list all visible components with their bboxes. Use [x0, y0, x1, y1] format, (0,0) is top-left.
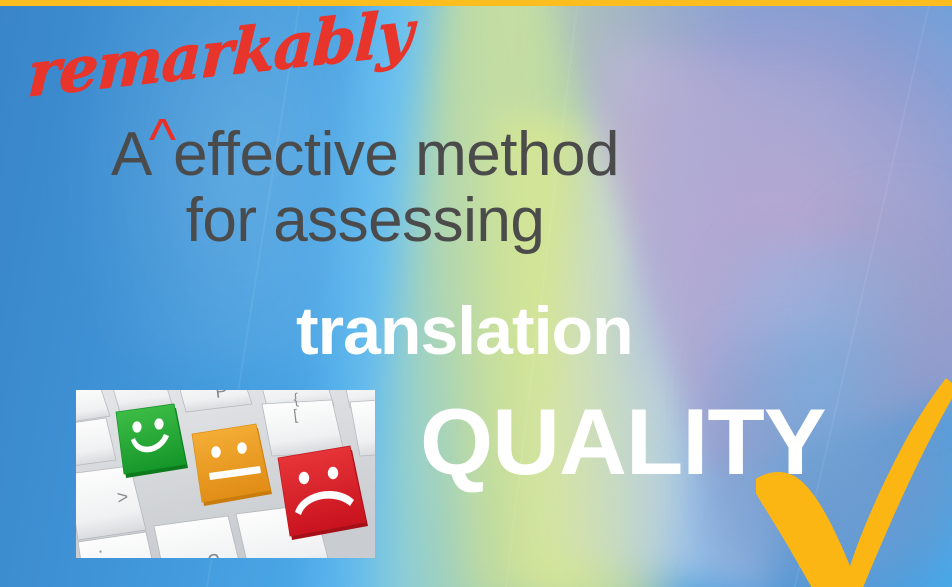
- headline-line-2: for assessing: [0, 188, 730, 254]
- page-title: A^effective method for assessing: [0, 122, 730, 255]
- keyboard-illustration: P { [ > . ?: [76, 390, 375, 558]
- key-label-p: P: [214, 390, 229, 403]
- headline-article: A: [111, 120, 152, 189]
- top-accent-bar: [0, 0, 952, 6]
- headline-rest: effective method: [173, 120, 619, 189]
- emphasis-word-translation: translation: [296, 292, 633, 370]
- poster-canvas: remarkably A^effective method for assess…: [0, 0, 952, 587]
- caret-insert-icon: ^: [149, 109, 170, 171]
- headline-line-1: A^effective method: [0, 122, 730, 188]
- check-mark-icon: [756, 366, 952, 587]
- keyboard-feedback-image: P { [ > . ?: [76, 390, 375, 558]
